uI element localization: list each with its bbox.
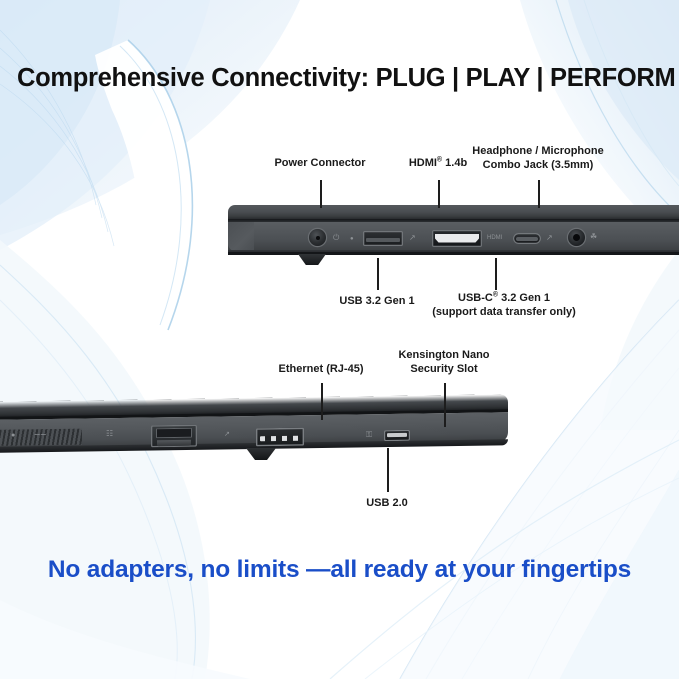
laptop-top-base-left-corner [228,222,254,252]
laptop-bottom-illustration: ● ⚊⚊ ☷ ↗ ⚿ [0,400,508,468]
page-title: Comprehensive Connectivity: PLUG | PLAY … [17,64,667,93]
usb-2-port [256,428,304,447]
label-headphone-mic-line1: Headphone / Microphone [472,144,603,158]
laptop-top-lid [228,205,679,220]
charge-led-icon: ● [350,236,354,242]
label-usb-c-version: 3.2 Gen 1 [498,292,550,304]
label-headphone-mic: Headphone / Microphone Combo Jack (3.5mm… [472,144,603,172]
laptop-top-chamfer [228,252,679,255]
tagline: No adapters, no limits —all ready at you… [0,556,679,584]
label-hdmi-version: 1.4b [442,157,467,169]
ethernet-symbol-icon: ☷ [106,430,113,438]
label-headphone-mic-line2: Combo Jack (3.5mm) [472,158,603,172]
label-usb-c-line2: (support data transfer only) [432,305,576,319]
status-leds-icon: ⚊⚊ [34,430,47,437]
leader-kensington [444,383,446,427]
laptop-top-illustration: ⏻ ● ↗ HDMI ↗ ☘ [228,205,679,263]
leader-usb-c-32-gen1 [495,258,497,290]
label-hdmi: HDMI® 1.4b [409,156,467,170]
leader-headphone-mic [538,180,540,208]
kensington-security-slot [384,430,410,441]
laptop-bottom-rubber-foot [246,448,276,460]
label-power-connector: Power Connector [274,156,365,170]
power-symbol-icon: ⏻ [333,234,339,242]
ethernet-rj45-port [151,425,197,448]
label-hdmi-text: HDMI [409,157,437,169]
label-kensington: Kensington Nano Security Slot [398,348,489,376]
power-jack-port [309,229,326,246]
leader-usb-32-gen1 [377,258,379,290]
kensington-symbol-icon: ⚿ [366,431,372,439]
usb-a-port [363,231,403,246]
usb-c-symbol-icon: ↗ [546,234,553,242]
product-infographic: Comprehensive Connectivity: PLUG | PLAY … [0,0,679,679]
hdmi-port [432,230,482,247]
power-led-icon: ● [11,432,15,439]
hdmi-symbol-icon: HDMI [487,235,502,241]
headphone-symbol-icon: ☘ [590,233,597,241]
leader-hdmi [438,180,440,208]
label-usb-c-text: USB-C [458,292,493,304]
label-usb-c-32-gen1: USB-C® 3.2 Gen 1 (support data transfer … [432,291,576,319]
audio-combo-jack-port [568,229,585,246]
label-ethernet: Ethernet (RJ-45) [279,362,364,376]
usb-c-port [513,233,541,244]
label-kensington-line2: Security Slot [398,362,489,376]
label-kensington-line1: Kensington Nano [398,348,489,362]
leader-usb-20 [387,448,389,492]
usb-2-symbol-icon: ↗ [224,431,230,438]
label-usb-20: USB 2.0 [366,496,408,510]
usb-symbol-icon: ↗ [409,234,416,242]
leader-ethernet [321,383,323,420]
label-usb-32-gen1: USB 3.2 Gen 1 [339,294,414,308]
leader-power-connector [320,180,322,208]
label-usb-c-line1: USB-C® 3.2 Gen 1 [432,291,576,305]
